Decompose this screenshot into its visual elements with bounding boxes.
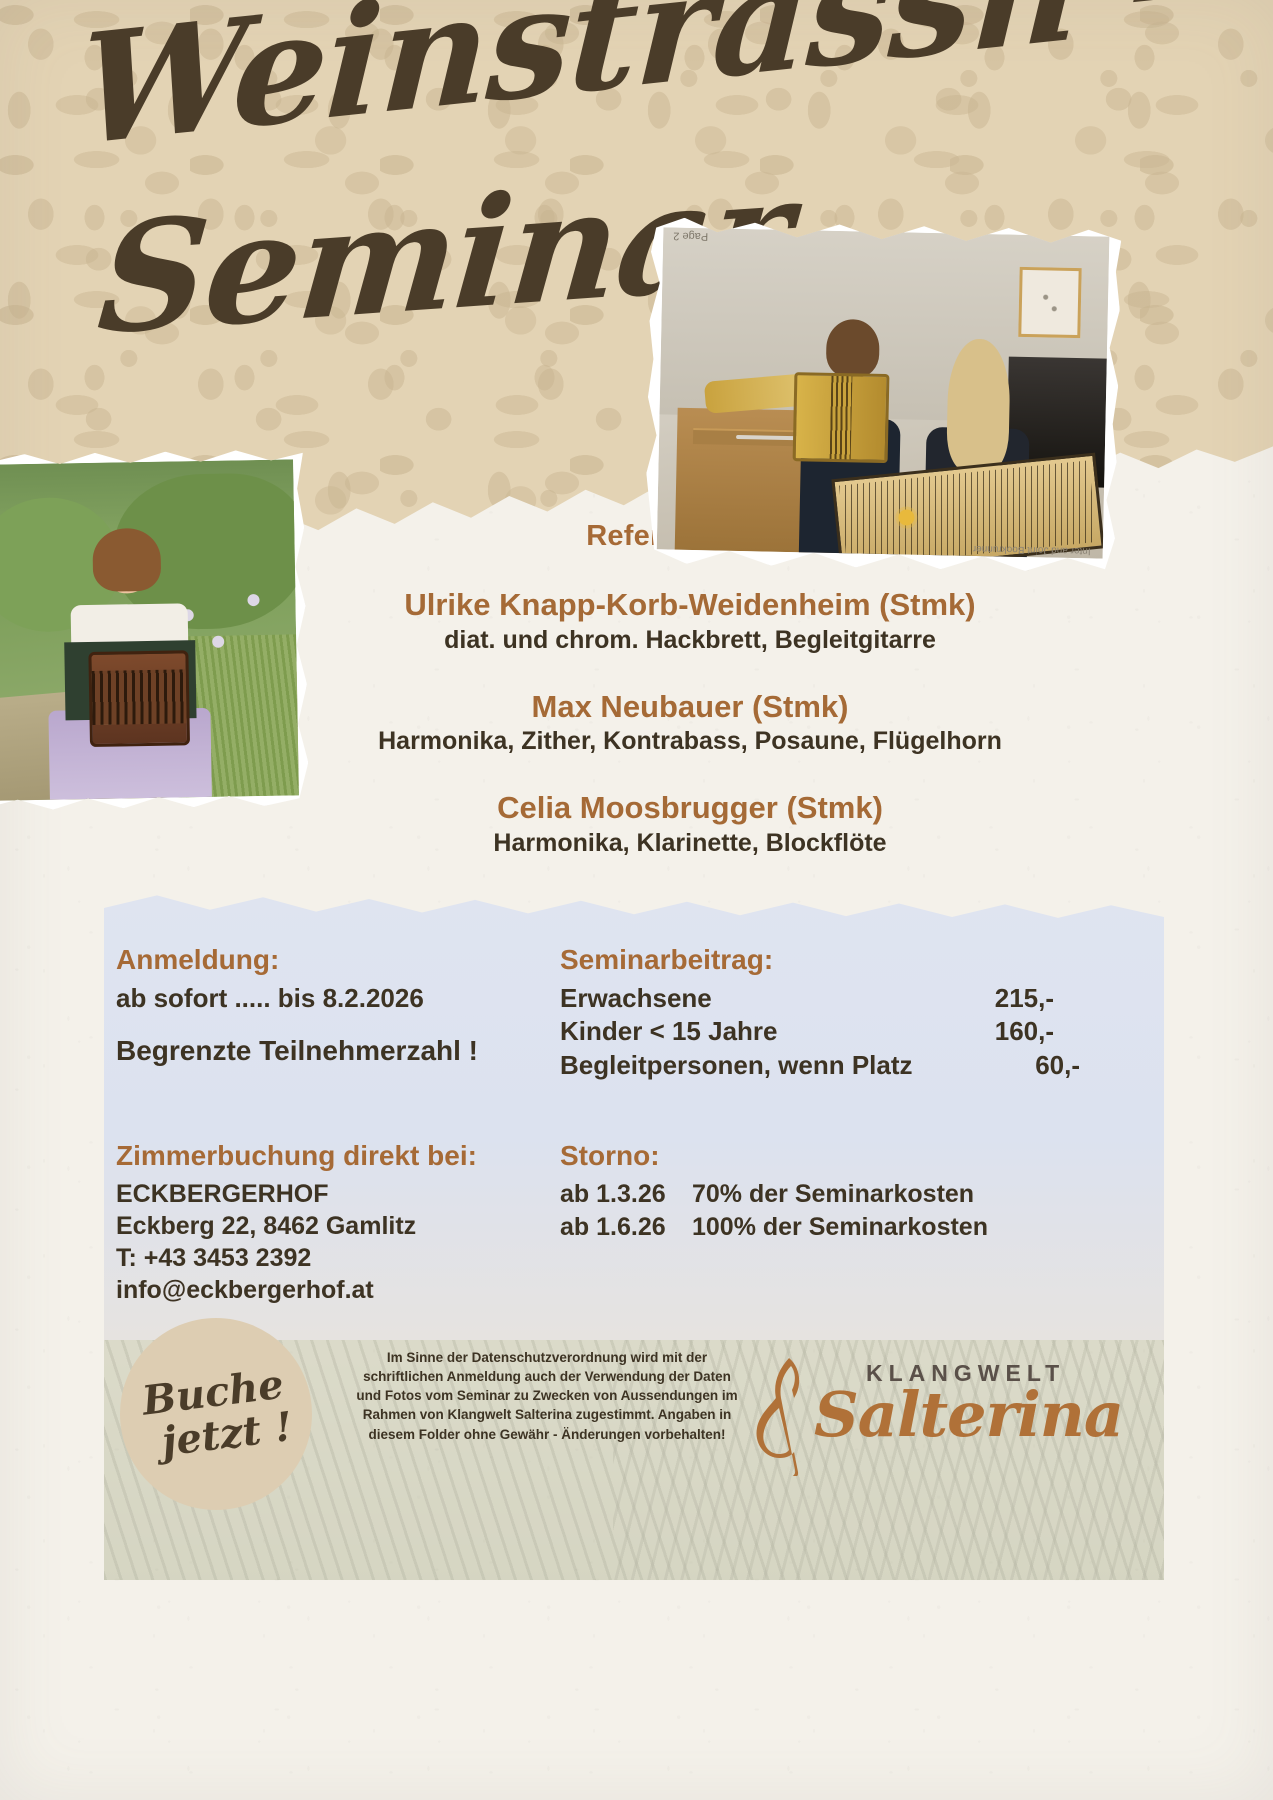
title-line-1: Weinstrassn - <box>76 0 1038 163</box>
hotel-name: ECKBERGERHOF <box>116 1178 576 1210</box>
poster-root: Weinstrassn - Seminar <box>0 0 1273 1800</box>
photo-solo-image <box>0 459 299 800</box>
price-label: Begleitpersonen, wenn Platz <box>560 1049 913 1082</box>
seminarbeitrag-block: Seminarbeitrag: Erwachsene 215,- Kinder … <box>560 944 1080 1082</box>
price-value: 60,- <box>1035 1049 1080 1082</box>
buche-jetzt-badge[interactable]: Buche jetzt ! <box>120 1318 312 1510</box>
storno-date: ab 1.6.26 <box>560 1211 692 1244</box>
solo-hair <box>93 528 161 592</box>
legal-disclaimer: Im Sinne der Datenschutzverordnung wird … <box>352 1348 742 1444</box>
klangwelt-salterina-logo: KLANGWELT Salterina <box>748 1350 1028 1480</box>
storno-row: ab 1.6.26 100% der Seminarkosten <box>560 1211 1080 1244</box>
anmeldung-block: Anmeldung: ab sofort ..... bis 8.2.2026 … <box>116 944 556 1069</box>
duo-scene <box>657 227 1110 558</box>
solo-scene <box>0 459 299 800</box>
referent-item: Celia Moosbrugger (Stmk) Harmonika, Klar… <box>300 790 1080 858</box>
storno-row: ab 1.3.26 70% der Seminarkosten <box>560 1178 1080 1211</box>
referent-instruments: diat. und chrom. Hackbrett, Begleitgitar… <box>300 625 1080 655</box>
price-value: 215,- <box>995 982 1080 1015</box>
hotel-email[interactable]: info@eckbergerhof.at <box>116 1274 576 1306</box>
badge-text: Buche jetzt ! <box>137 1362 295 1466</box>
solo-flower-2 <box>212 635 224 647</box>
storno-block: Storno: ab 1.3.26 70% der Seminarkosten … <box>560 1140 1080 1243</box>
referents-section: ReferentInnen: Ulrike Knapp-Korb-Weidenh… <box>300 520 1080 858</box>
referent-name: Celia Moosbrugger (Stmk) <box>300 790 1080 826</box>
zimmerbuchung-heading: Zimmerbuchung direkt bei: <box>116 1140 576 1172</box>
referent-instruments: Harmonika, Klarinette, Blockflöte <box>300 828 1080 858</box>
price-row: Begleitpersonen, wenn Platz 60,- <box>560 1049 1080 1082</box>
anmeldung-heading: Anmeldung: <box>116 944 556 976</box>
referent-name: Ulrike Knapp-Korb-Weidenheim (Stmk) <box>300 587 1080 623</box>
storno-date: ab 1.3.26 <box>560 1178 692 1211</box>
price-row: Erwachsene 215,- <box>560 982 1080 1015</box>
storno-text: 100% der Seminarkosten <box>692 1211 988 1244</box>
seminarbeitrag-heading: Seminarbeitrag: <box>560 944 1080 976</box>
price-label: Erwachsene <box>560 982 712 1015</box>
anmeldung-note: Begrenzte Teilnehmerzahl ! <box>116 1033 556 1069</box>
duo-woman-hair <box>946 339 1011 472</box>
duo-accordion <box>792 372 889 464</box>
referent-item: Ulrike Knapp-Korb-Weidenheim (Stmk) diat… <box>300 587 1080 655</box>
price-label: Kinder < 15 Jahre <box>560 1015 778 1048</box>
duo-wall-art <box>1018 267 1081 338</box>
price-row: Kinder < 15 Jahre 160,- <box>560 1015 1080 1048</box>
photo-solo-frame <box>0 449 309 811</box>
referent-name: Max Neubauer (Stmk) <box>300 689 1080 725</box>
logo-salterina-text: Salterina <box>814 1378 1123 1451</box>
spacer <box>116 1015 556 1033</box>
photo-duo-frame: Page 2 Inter and Joint Bookrunner <box>644 217 1121 573</box>
anmeldung-period: ab sofort ..... bis 8.2.2026 <box>116 982 556 1015</box>
storno-text: 70% der Seminarkosten <box>692 1178 974 1211</box>
zimmerbuchung-block: Zimmerbuchung direkt bei: ECKBERGERHOF E… <box>116 1140 576 1306</box>
hotel-address: Eckberg 22, 8462 Gamlitz <box>116 1210 576 1242</box>
solo-accordion <box>88 651 190 748</box>
photo-duo-image: Page 2 Inter and Joint Bookrunner <box>657 227 1110 558</box>
storno-heading: Storno: <box>560 1140 1080 1172</box>
duo-sun-decal <box>898 509 914 525</box>
solo-person <box>42 535 215 800</box>
referent-item: Max Neubauer (Stmk) Harmonika, Zither, K… <box>300 689 1080 757</box>
price-value: 160,- <box>995 1015 1080 1048</box>
photo-duo-caption-top: Page 2 <box>673 230 708 243</box>
duo-man-hair <box>825 318 880 378</box>
treble-clef-icon <box>748 1354 822 1476</box>
solo-accordion-keys <box>97 678 115 725</box>
referent-instruments: Harmonika, Zither, Kontrabass, Posaune, … <box>300 726 1080 756</box>
hotel-phone[interactable]: T: +43 3453 2392 <box>116 1242 576 1274</box>
